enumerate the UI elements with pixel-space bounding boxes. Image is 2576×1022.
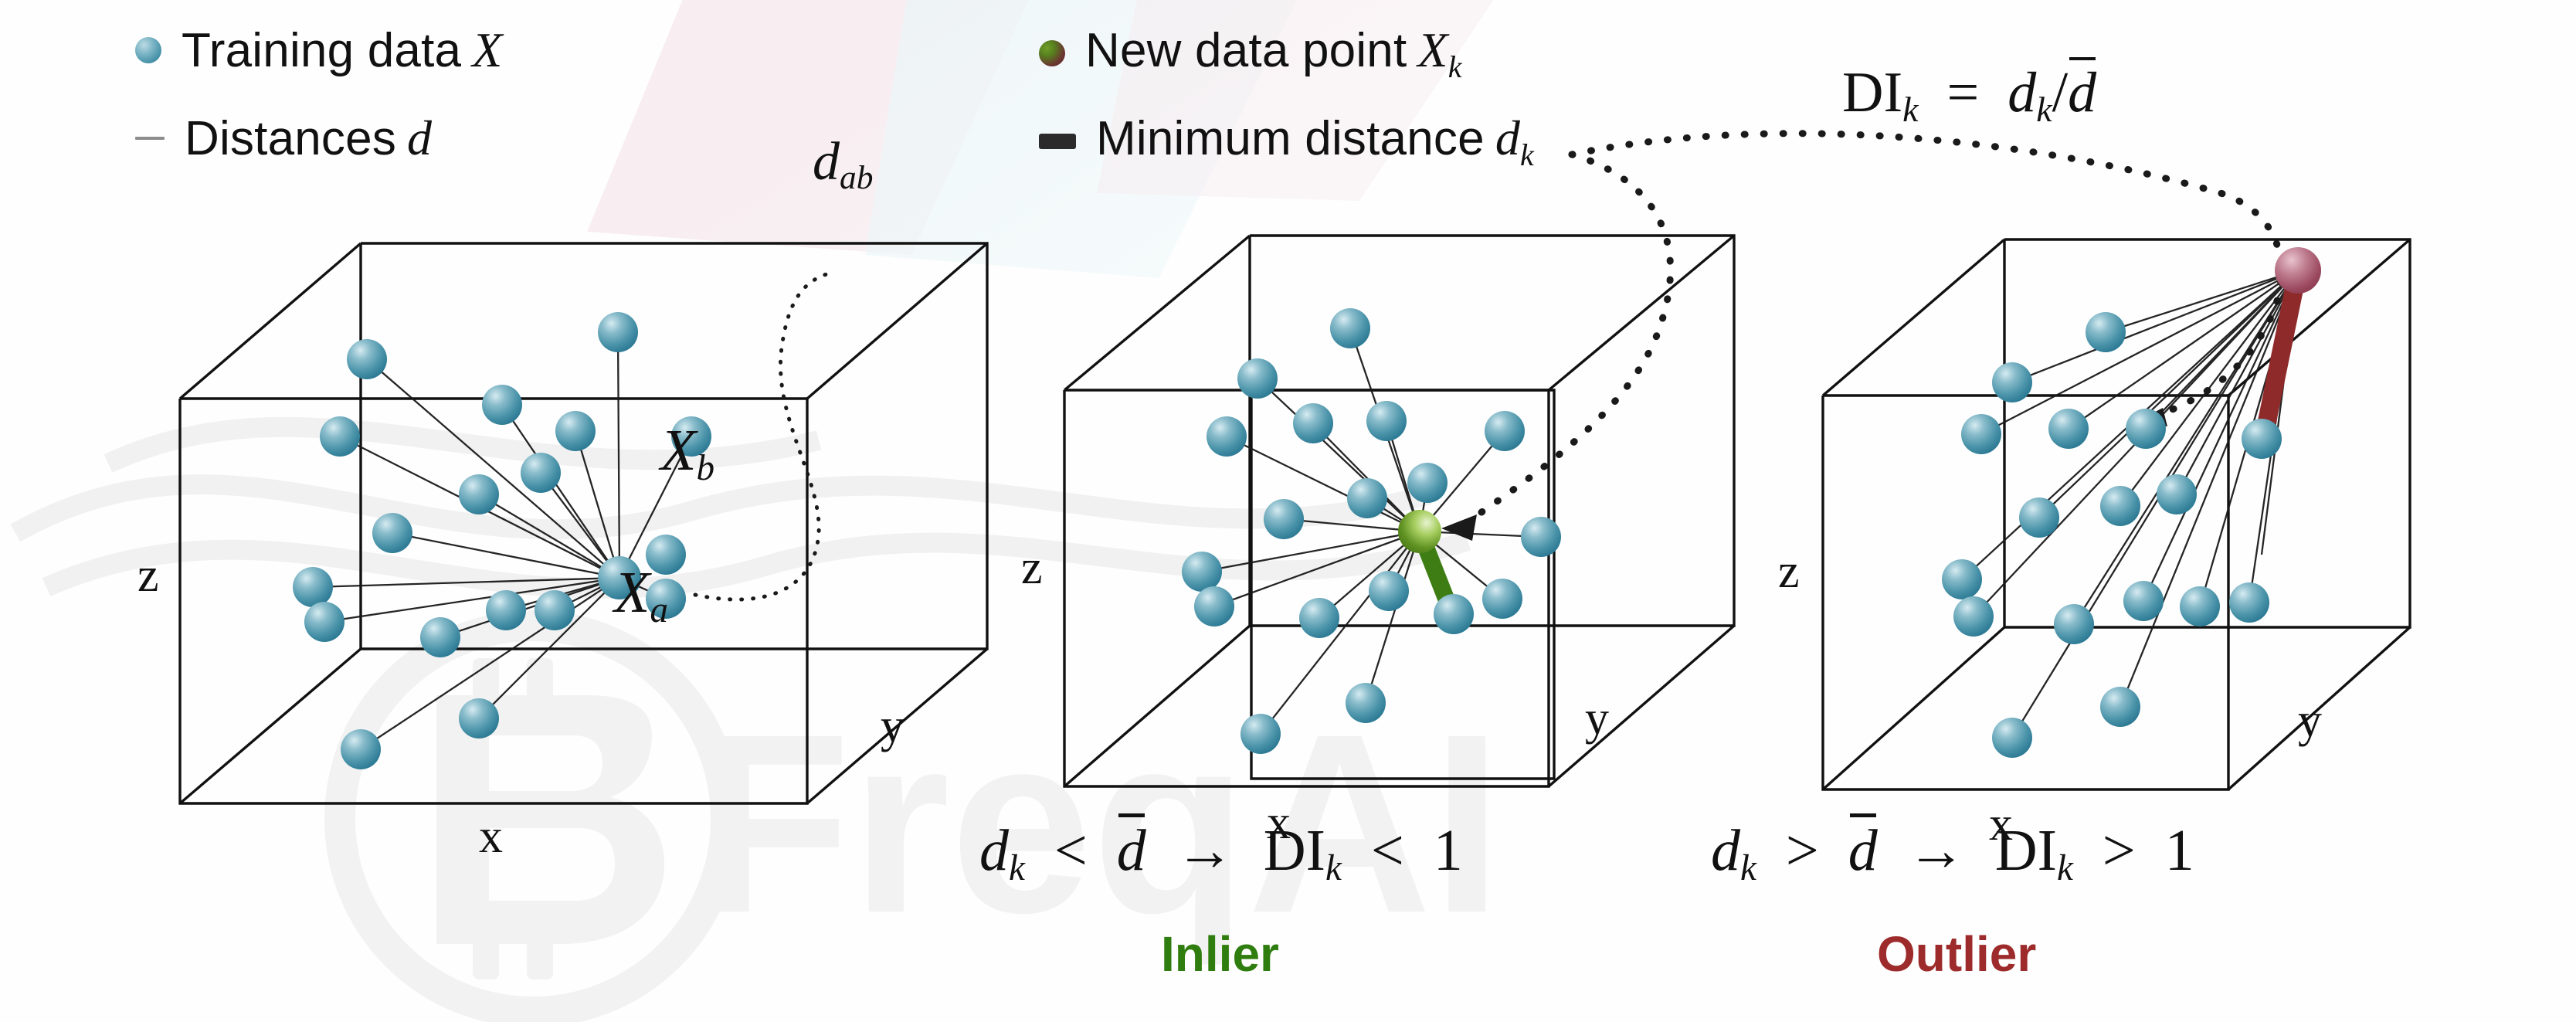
legend-item-minimum-distance: Minimum distancedk [1039, 110, 1534, 173]
training-data-points [293, 312, 711, 769]
leader-arrowhead-inlier [1441, 514, 1477, 541]
verdict-inlier: Inlier [1161, 925, 1279, 983]
figure-canvas: FreqAI [0, 0, 2576, 1022]
point-x-k-outlier [2275, 247, 2321, 294]
outlier-min-distance-segment [2265, 270, 2298, 433]
legend-item-new-data-point: New data pointXk [1039, 22, 1462, 85]
di-formula: DIk = dk/d [1842, 60, 2096, 130]
new-point-dot-icon [1039, 40, 1065, 66]
thick-dark-dash-icon [1039, 134, 1076, 149]
axis-label-x-panel-1: x [479, 810, 503, 864]
axis-label-x-panel-2: x [1267, 796, 1291, 851]
point-x-k-inlier [1398, 510, 1441, 553]
verdict-outlier: Outlier [1877, 925, 2036, 983]
blue-sphere-dot-icon [135, 37, 161, 63]
axis-label-y-panel-2: y [1585, 691, 1609, 746]
legend-item-training-data: Training dataX [135, 22, 503, 79]
axis-label-x-panel-3: x [1989, 797, 2013, 852]
outlier-caption-formula: dk > d → DIk > 1 [1711, 817, 2194, 889]
inlier-caption-formula: dk < d → DIk < 1 [979, 817, 1463, 889]
axis-label-z-panel-2: z [1021, 541, 1043, 596]
axis-label-y-panel-1: y [881, 699, 904, 754]
legend-label-distances: Distancesd [185, 110, 432, 167]
legend-item-distances: Distancesd [135, 110, 432, 167]
thin-gray-dash-icon [135, 137, 165, 140]
legend-label-new-data-point: New data pointXk [1085, 22, 1462, 85]
legend: Training dataX Distancesd New data point… [0, 0, 2576, 185]
legend-label-training-data: Training dataX [182, 22, 503, 79]
inlier-data-points [1182, 308, 1561, 754]
dk-leader-to-inlier [1471, 154, 1671, 519]
d-ab-label: dab [813, 131, 873, 197]
legend-label-minimum-distance: Minimum distancedk [1096, 110, 1534, 173]
x-a-label: Xa [614, 559, 668, 631]
x-b-label: Xb [660, 417, 714, 489]
axis-label-z-panel-1: z [137, 548, 159, 603]
axis-label-y-panel-3: y [2298, 694, 2322, 749]
axis-label-z-panel-3: z [1778, 545, 1800, 599]
